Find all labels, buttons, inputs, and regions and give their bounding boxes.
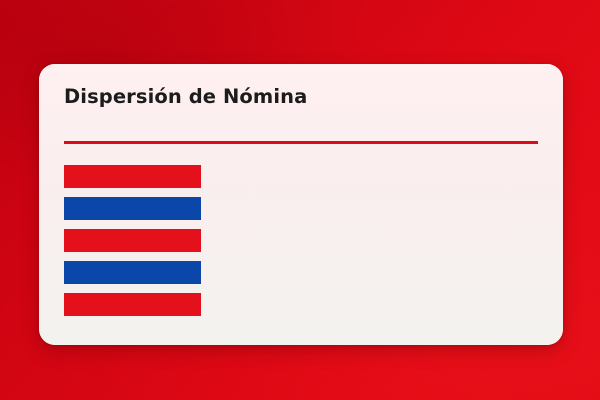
page-title: Dispersión de Nómina: [64, 85, 307, 108]
card-empty-content-area: [214, 165, 549, 331]
app-root: Dispersión de Nómina: [0, 0, 600, 400]
bar-item: [64, 229, 201, 252]
bar-item: [64, 293, 201, 316]
bar-item: [64, 197, 201, 220]
title-divider: [64, 141, 538, 144]
bar-item: [64, 165, 201, 188]
payroll-card: Dispersión de Nómina: [39, 64, 563, 345]
bar-list: [64, 165, 201, 316]
bar-item: [64, 261, 201, 284]
